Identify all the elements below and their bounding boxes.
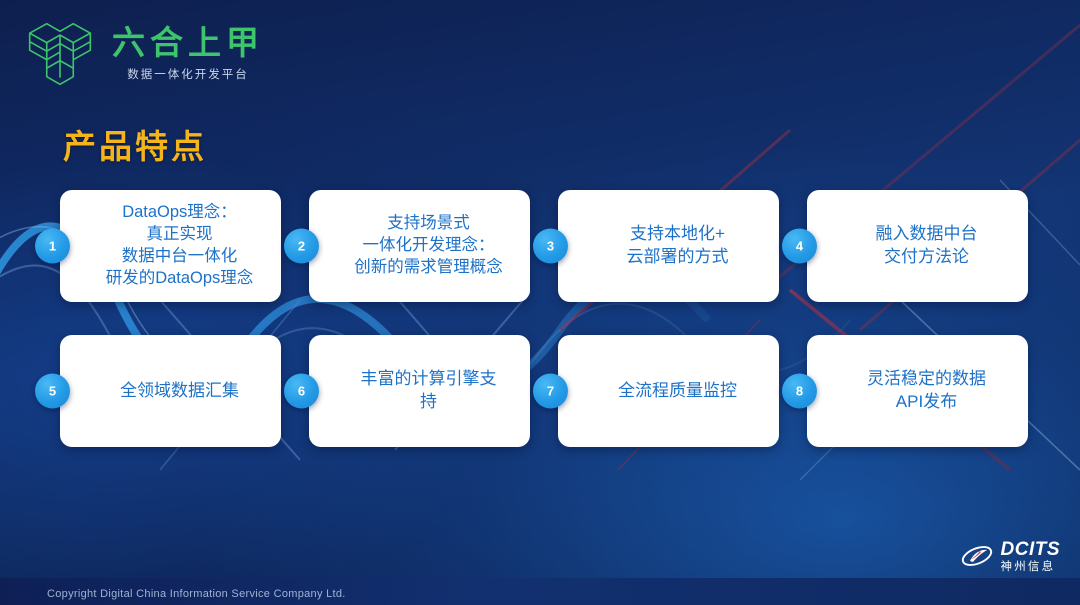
card-text-8: 灵活稳定的数据 API发布 <box>837 368 1016 413</box>
feature-card-2[interactable]: 2 支持场景式 一体化开发理念： 创新的需求管理概念 <box>309 190 530 302</box>
feature-card-3[interactable]: 3 支持本地化+ 云部署的方式 <box>558 190 779 302</box>
corp-name-en: DCITS <box>1001 540 1061 559</box>
card-text-4: 融入数据中台 交付方法论 <box>837 223 1016 268</box>
card-badge-3: 3 <box>533 229 568 264</box>
brand-name: 六合上甲 <box>112 26 264 61</box>
feature-card-1[interactable]: 1 DataOps理念： 真正实现 数据中台一体化 研发的DataOps理念 <box>60 190 281 302</box>
isometric-brick-cube-icon <box>22 18 98 90</box>
corp-name-cn: 神州信息 <box>1001 562 1061 574</box>
card-text-3: 支持本地化+ 云部署的方式 <box>588 223 767 268</box>
card-badge-1: 1 <box>35 229 70 264</box>
feature-card-7[interactable]: 7 全流程质量监控 <box>558 335 779 447</box>
feature-card-grid: 1 DataOps理念： 真正实现 数据中台一体化 研发的DataOps理念 2… <box>60 190 1030 447</box>
feature-card-8[interactable]: 8 灵活稳定的数据 API发布 <box>807 335 1028 447</box>
card-badge-7: 7 <box>533 374 568 409</box>
slide-canvas: 六合上甲 数据一体化开发平台 产品特点 1 DataOps理念： 真正实现 数据… <box>0 0 1080 605</box>
card-text-1: DataOps理念： 真正实现 数据中台一体化 研发的DataOps理念 <box>90 202 269 290</box>
card-badge-5: 5 <box>35 374 70 409</box>
feature-card-4[interactable]: 4 融入数据中台 交付方法论 <box>807 190 1028 302</box>
page-title: 产品特点 <box>63 120 207 168</box>
card-text-5: 全领域数据汇集 <box>90 380 269 403</box>
card-text-2: 支持场景式 一体化开发理念： 创新的需求管理概念 <box>339 213 518 279</box>
brand-tagline: 数据一体化开发平台 <box>127 66 249 82</box>
feature-card-6[interactable]: 6 丰富的计算引擎支 持 <box>309 335 530 447</box>
card-badge-4: 4 <box>782 229 817 264</box>
brand-header: 六合上甲 数据一体化开发平台 <box>22 18 264 90</box>
copyright-text: Copyright Digital China Information Serv… <box>47 588 346 600</box>
feature-card-5[interactable]: 5 全领域数据汇集 <box>60 335 281 447</box>
dcits-swirl-icon <box>960 543 994 569</box>
card-badge-8: 8 <box>782 374 817 409</box>
corporate-logo: DCITS 神州信息 <box>960 540 1061 574</box>
card-badge-2: 2 <box>284 229 319 264</box>
card-badge-6: 6 <box>284 374 319 409</box>
card-text-7: 全流程质量监控 <box>588 380 767 403</box>
card-text-6: 丰富的计算引擎支 持 <box>339 368 518 413</box>
